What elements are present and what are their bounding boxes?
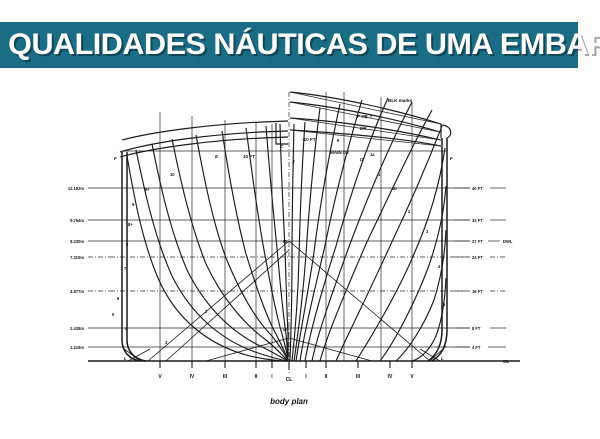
- bottom-station-10: V: [410, 374, 414, 380]
- right-axis-label-6: 4 FT: [472, 345, 481, 350]
- station-ticks: [160, 361, 412, 370]
- right-axis-label-0: 40 FT: [472, 186, 483, 191]
- left-axis-label-1: 9.754m: [70, 218, 84, 223]
- annotation-f-cb-f: F CB. f: [357, 114, 372, 119]
- page-root: QUALIDADES NÁUTICAS DE UMA EMBARCAÇÃO: [0, 0, 600, 439]
- right-station-3: 1b: [392, 186, 397, 191]
- right-station-6: 4: [438, 264, 441, 269]
- left-station-10: 2: [205, 309, 208, 314]
- left-axis-label-2: 8.230m: [70, 239, 84, 244]
- left-station-7: 5: [112, 312, 115, 317]
- baseline-label: WL: [503, 359, 510, 364]
- left-axis-label-3: 7.315m: [70, 255, 84, 260]
- right-station-7: 5: [443, 302, 446, 307]
- dwl-label: DWL: [503, 239, 513, 244]
- bottom-station-9: IV: [388, 374, 393, 380]
- bottom-station-labels: V IV III II I CL I II III IV V: [158, 374, 414, 383]
- left-axis-label-6: 1.219m: [70, 345, 84, 350]
- right-axis-label-5: 8 FT: [472, 326, 481, 331]
- right-axis-label-4: 16 FT: [472, 289, 483, 294]
- left-axis-label-0: 12.192m: [68, 186, 85, 191]
- left-axis-label-4: 4.877m: [70, 289, 84, 294]
- bottom-station-2: III: [223, 374, 228, 380]
- bottom-station-7: II: [325, 374, 328, 380]
- bottom-station-4: I: [271, 374, 273, 380]
- annotation-blk-marks: BLK marks: [388, 98, 413, 103]
- body-plan-svg: 12.192m 9.754m 8.230m 7.315m 4.877m 2.43…: [0, 78, 600, 439]
- bottom-station-8: III: [356, 374, 361, 380]
- annotation-j: J: [292, 159, 295, 164]
- right-axis-label-1: 32 FT: [472, 218, 483, 223]
- right-axis-label-3: 24 FT: [472, 255, 483, 260]
- bottom-station-0: V: [158, 374, 162, 380]
- station-number-labels: 10 9+ 9 8+ 8 7 6 5 4 3 2 6 1a 1 1b 2 3 4…: [112, 138, 446, 345]
- waterline-grid: [88, 151, 520, 361]
- annotation-l-left: L: [124, 356, 127, 361]
- annotation-f-left: F: [114, 156, 117, 161]
- left-station-6: 6: [117, 296, 120, 301]
- annotation-main-dk: MAIN Dk: [330, 150, 349, 155]
- annotation-dr: DR: [360, 126, 367, 131]
- annotation-10ft: 10 FT: [243, 154, 255, 159]
- bottom-station-1: IV: [190, 374, 195, 380]
- right-station-1: 1a: [370, 152, 375, 157]
- right-station-5: 3: [426, 229, 429, 234]
- annotation-neg10ft: -10 FT: [302, 137, 316, 142]
- figure-caption: body plan: [270, 397, 308, 406]
- right-station-2: 1: [378, 172, 381, 177]
- left-station-3: 8+: [128, 222, 133, 227]
- annotation-w: W: [283, 239, 288, 244]
- left-station-2: 9: [132, 202, 135, 207]
- right-axis-label-2: 27 FT: [472, 239, 483, 244]
- left-station-1: 9+: [145, 187, 150, 192]
- left-station-4: 8: [126, 242, 129, 247]
- right-station-0: 6: [337, 138, 340, 143]
- bottom-station-5: CL: [286, 377, 293, 383]
- body-plan-figure: 12.192m 9.754m 8.230m 7.315m 4.877m 2.43…: [0, 78, 600, 439]
- page-title: QUALIDADES NÁUTICAS DE UMA EMBARCAÇÃO: [0, 28, 600, 62]
- left-axis-label-5: 2.438m: [70, 326, 84, 331]
- right-station-4: 2: [408, 209, 411, 214]
- title-banner: QUALIDADES NÁUTICAS DE UMA EMBARCAÇÃO: [0, 22, 578, 68]
- annotation-l-right: L: [441, 356, 444, 361]
- annotation-e: E: [215, 154, 219, 159]
- left-station-0: 10: [170, 172, 175, 177]
- annotation-c: C: [280, 144, 284, 149]
- right-axis-labels: 40 FT 32 FT 27 FT DWL 24 FT 16 FT 8 FT 4…: [455, 186, 513, 364]
- station-curves-aft: [127, 124, 288, 361]
- bottom-station-3: II: [255, 374, 258, 380]
- left-axis-labels: 12.192m 9.754m 8.230m 7.315m 4.877m 2.43…: [68, 186, 110, 350]
- annotation-f-right: F: [450, 156, 453, 161]
- bottom-station-6: I: [305, 374, 307, 380]
